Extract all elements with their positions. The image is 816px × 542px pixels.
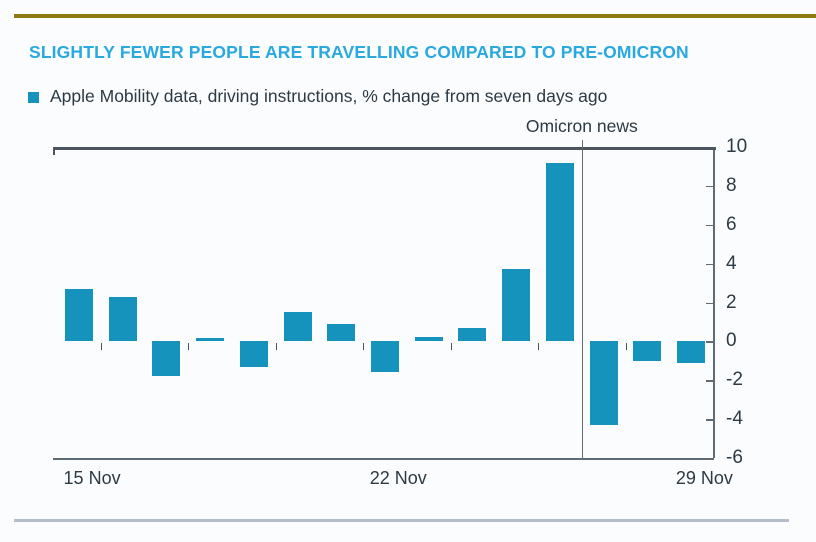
x-axis-tick [101,343,102,350]
bar-slot[interactable] [494,147,538,458]
y-axis-tick [706,225,713,227]
bar[interactable] [677,341,705,362]
page-title: SLIGHTLY FEWER PEOPLE ARE TRAVELLING COM… [29,42,689,63]
x-axis-tick-label: 29 Nov [676,468,733,489]
y-axis-tick-label: -6 [726,447,743,469]
y-axis-tick-label: 8 [726,175,737,197]
omicron-news-annotation-label: Omicron news [526,116,638,137]
bar[interactable] [65,289,93,341]
bar[interactable] [502,269,530,341]
omicron-news-marker-line [582,140,584,458]
bar[interactable] [546,163,574,342]
y-axis-tick-label: 0 [726,330,737,352]
y-axis-tick [706,419,713,421]
bar[interactable] [327,324,355,341]
bar[interactable] [633,341,661,360]
x-axis-tick [451,343,452,350]
bar[interactable] [415,337,443,342]
y-axis-tick [706,380,713,382]
bar[interactable] [458,328,486,342]
x-axis-tick [538,343,539,350]
y-axis-tick [706,458,713,460]
bar-slot[interactable] [626,147,670,458]
plot-baseline [53,458,714,460]
y-axis-tick [706,303,713,305]
x-axis-tick-label: 22 Nov [370,468,427,489]
x-axis-tick [626,343,627,350]
y-axis-tick-label: 2 [726,292,737,314]
bar[interactable] [284,312,312,341]
zero-axis-cap [53,147,55,155]
bar-slot[interactable] [363,147,407,458]
bar-slot[interactable] [144,147,188,458]
x-axis-tick-label: 15 Nov [64,468,121,489]
y-axis-tick-label: 6 [726,214,737,236]
bar[interactable] [196,338,224,341]
chart-legend: Apple Mobility data, driving instruction… [28,86,607,107]
legend-entry-label: Apple Mobility data, driving instruction… [50,86,607,107]
bar-slot[interactable] [101,147,145,458]
x-axis-tick [363,343,364,350]
chart-plot-area [57,147,713,458]
bar-slot[interactable] [538,147,582,458]
bottom-rule-divider [14,519,789,522]
y-axis-tick [706,341,713,343]
bar[interactable] [371,341,399,372]
y-axis: 1086420-2-4-6 [713,147,715,458]
bar-slot[interactable] [276,147,320,458]
bar-slot[interactable] [451,147,495,458]
bar[interactable] [152,341,180,376]
bar-series [57,147,713,458]
bar-slot[interactable] [319,147,363,458]
y-axis-tick-label: 4 [726,253,737,275]
bar-slot[interactable] [582,147,626,458]
chart-slide: SLIGHTLY FEWER PEOPLE ARE TRAVELLING COM… [0,0,816,542]
bar[interactable] [590,341,618,425]
legend-marker-icon [28,92,39,103]
x-axis-tick [276,343,277,350]
bar-slot[interactable] [232,147,276,458]
bar[interactable] [240,341,268,366]
y-axis-tick-label: -2 [726,369,743,391]
top-rule-divider [14,14,816,18]
bar-slot[interactable] [188,147,232,458]
x-axis-tick [188,343,189,350]
y-axis-tick-label: 10 [726,136,747,158]
y-axis-tick-label: -4 [726,408,743,430]
bar[interactable] [109,297,137,342]
bar-slot[interactable] [57,147,101,458]
bar-slot[interactable] [407,147,451,458]
y-axis-tick [706,186,713,188]
y-axis-tick [706,264,713,266]
zero-axis-line [53,147,716,150]
